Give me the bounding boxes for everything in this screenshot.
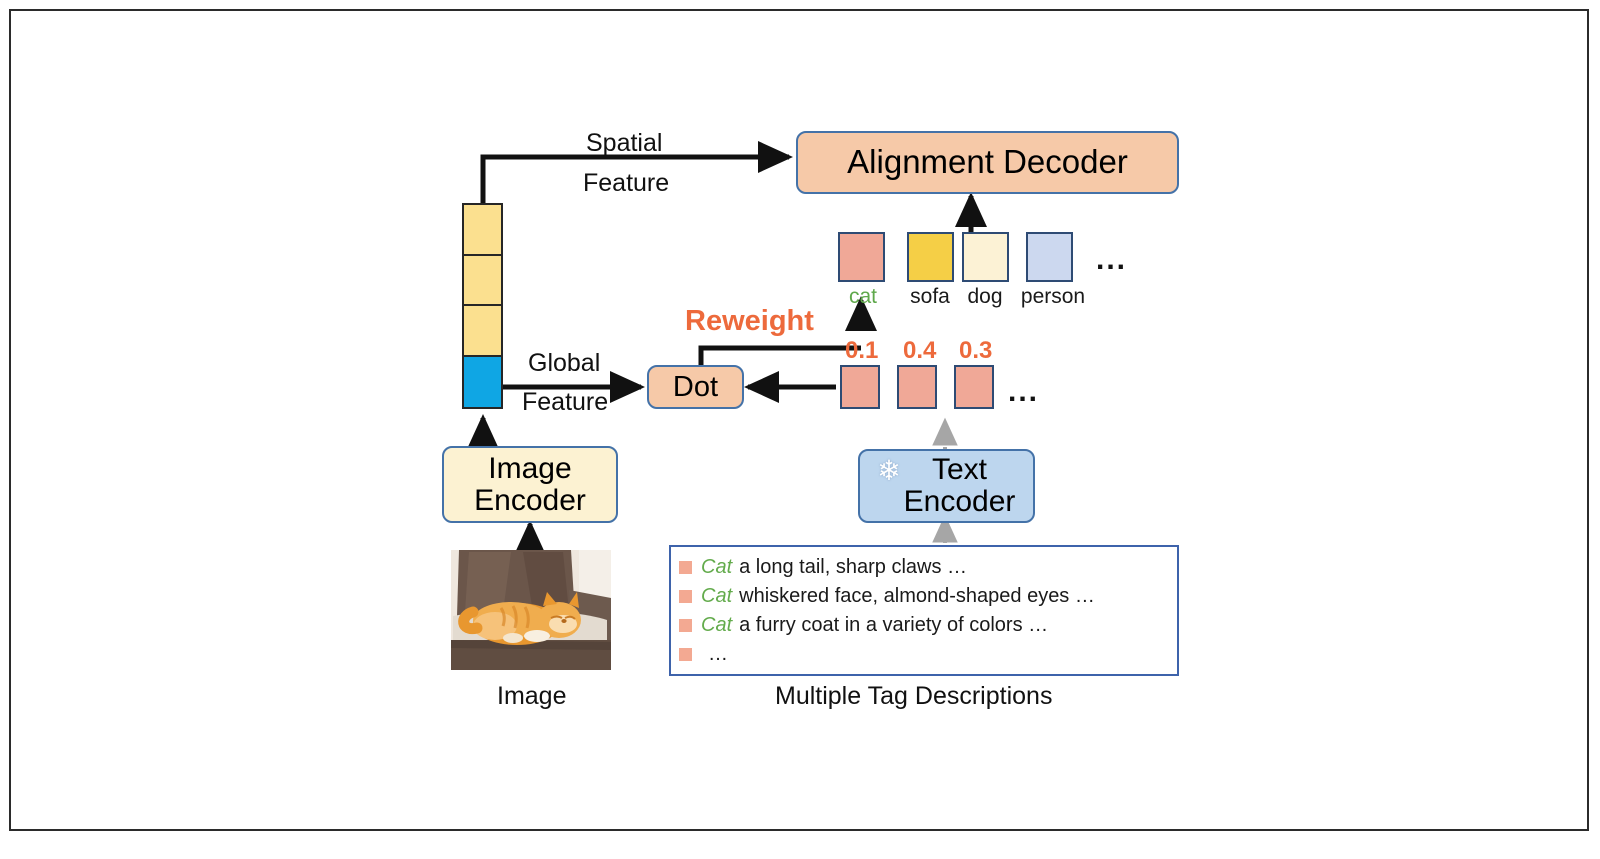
image-caption: Image [497,683,566,709]
score-label-3: 0.3 [959,337,992,365]
bullet-icon [679,648,692,661]
bullet-icon [679,561,692,574]
description-text: a furry coat in a variety of colors … [739,614,1048,637]
description-text: a long tail, sharp claws … [739,556,967,579]
tag-ellipsis: ... [1096,243,1127,277]
global-feature-label-top: Global [528,350,600,376]
tag-square-sofa[interactable] [907,232,954,282]
figure-canvas: Alignment Decoder Spatial Feature Global… [0,0,1600,859]
bullet-icon [679,590,692,603]
spatial-token-2 [464,256,501,307]
score-ellipsis: ... [1008,375,1039,409]
dot-label: Dot [673,372,718,403]
spatial-feature-label-top: Spatial [586,130,662,156]
alignment-decoder-box[interactable]: Alignment Decoder [796,131,1179,194]
bullet-icon [679,619,692,632]
score-square-1[interactable] [840,365,880,409]
image-encoder-label: Image Encoder [474,453,586,517]
global-token [464,357,501,408]
tag-label-person: person [1011,285,1095,309]
image-thumbnail [451,550,611,670]
description-tag: Cat [701,556,732,579]
description-tag: Cat [701,614,732,637]
dot-box[interactable]: Dot [647,365,744,409]
feature-token-column [462,203,503,409]
tag-square-person[interactable] [1026,232,1073,282]
description-text: … [708,643,728,666]
image-encoder-box[interactable]: Image Encoder [442,446,618,523]
reweight-label: Reweight [685,305,814,338]
tag-label-sofa: sofa [899,285,961,309]
description-row-1[interactable]: Cat a long tail, sharp claws … [679,553,1169,582]
tag-label-dog: dog [961,285,1009,309]
spatial-feature-label-bottom: Feature [583,170,669,196]
tag-square-dog[interactable] [962,232,1009,282]
spatial-token-1 [464,205,501,256]
description-text: whiskered face, almond-shaped eyes … [739,585,1095,608]
description-row-2[interactable]: Cat whiskered face, almond-shaped eyes … [679,582,1169,611]
description-tag: Cat [701,585,732,608]
alignment-decoder-label: Alignment Decoder [847,145,1128,180]
snowflake-icon: ❄ [874,456,904,486]
score-label-1: 0.1 [845,337,878,365]
global-feature-label-bottom: Feature [522,389,608,415]
score-square-2[interactable] [897,365,937,409]
spatial-token-3 [464,306,501,357]
tag-square-cat[interactable] [838,232,885,282]
score-square-3[interactable] [954,365,994,409]
score-label-2: 0.4 [903,337,936,365]
description-row-4[interactable]: … [679,640,1169,669]
cat-photo-illustration [451,550,611,670]
tag-label-cat: cat [841,285,885,309]
description-row-3[interactable]: Cat a furry coat in a variety of colors … [679,611,1169,640]
tag-descriptions-panel: Cat a long tail, sharp claws … Cat whisk… [669,545,1179,676]
descriptions-caption: Multiple Tag Descriptions [775,683,1052,709]
